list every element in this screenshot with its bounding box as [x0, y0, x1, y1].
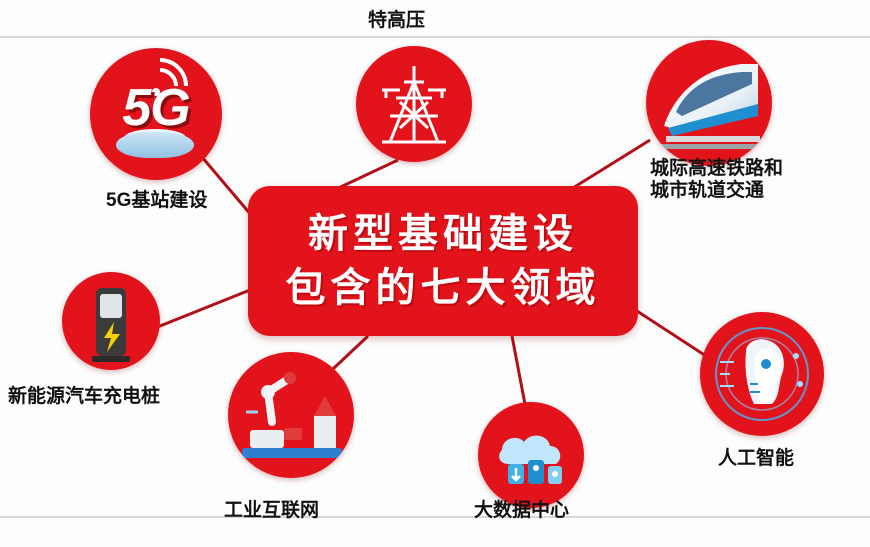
cloud-data-icon	[478, 402, 584, 508]
node-label-uhv: 特高压	[368, 10, 425, 32]
center-plaque: 新型基础建设 包含的七大领域	[248, 186, 638, 336]
bubble-5g: 5G	[90, 48, 222, 180]
bubble-ai	[700, 312, 824, 436]
node-label-bigdata: 大数据中心	[474, 500, 569, 522]
link-ev	[150, 290, 250, 330]
transmission-tower-icon	[356, 46, 472, 162]
bubble-rail	[646, 40, 772, 166]
node-label-5g: 5G基站建设	[106, 190, 207, 212]
bubble-iiot	[228, 352, 354, 478]
5g-tower-icon: 5G	[90, 48, 222, 180]
center-title-line-1: 新型基础建设	[308, 209, 578, 259]
industrial-robot-arm-icon	[228, 352, 354, 478]
node-label-rail: 城际高速铁路和 城市轨道交通	[650, 158, 783, 202]
node-label-ev: 新能源汽车充电桩	[8, 386, 160, 408]
ai-robot-head-icon	[700, 312, 824, 436]
bubble-bigdata	[478, 402, 584, 508]
ev-charging-pile-icon	[62, 272, 160, 370]
bubble-uhv	[356, 46, 472, 162]
high-speed-train-icon	[646, 40, 772, 166]
bubble-ev	[62, 272, 160, 370]
node-label-iiot: 工业互联网	[224, 500, 319, 522]
node-label-ai: 人工智能	[718, 448, 794, 470]
center-title-line-2: 包含的七大领域	[286, 263, 601, 313]
infographic-canvas: 新型基础建设 包含的七大领域 5G 5G基站建设 特高压	[0, 0, 870, 547]
